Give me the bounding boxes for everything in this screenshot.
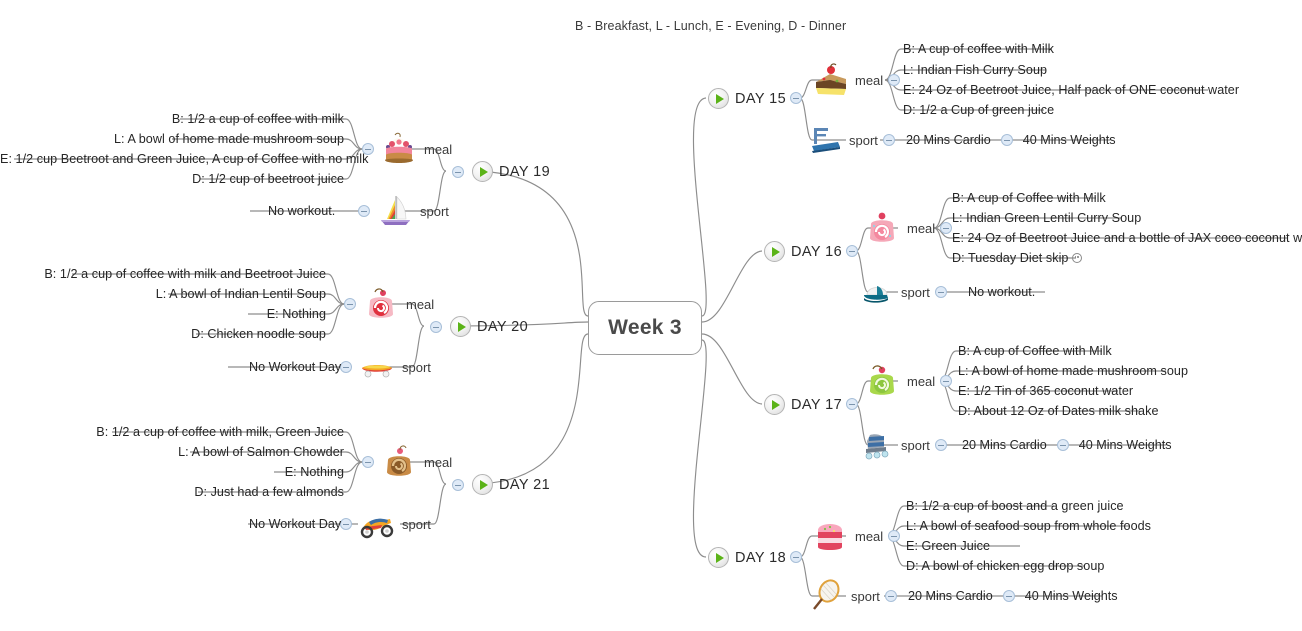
collapse-minus-icon-day-15-meal[interactable]: [888, 74, 900, 86]
meal-item[interactable]: L: A bowl of home made mushroom soup: [0, 132, 344, 146]
play-badge-icon: [450, 316, 471, 337]
baseball-cap-icon: [856, 274, 896, 310]
sport-item[interactable]: 40 Mins Weights: [1023, 133, 1116, 147]
category-meal-day-16[interactable]: meal: [862, 210, 952, 246]
meal-item-text: D: Tuesday Diet skip: [952, 251, 1069, 265]
collapse-minus-icon-day-18-sport-1[interactable]: [1003, 590, 1015, 602]
collapse-minus-icon-day-19[interactable]: [452, 166, 464, 178]
category-label: meal: [406, 297, 434, 312]
sport-item[interactable]: 20 Mins Cardio: [962, 438, 1047, 452]
green-swirl-cake-icon: [862, 363, 902, 399]
meal-item[interactable]: B: 1/2 a cup of coffee with milk: [0, 112, 344, 126]
sport-items-day-16: No workout.: [968, 285, 1035, 299]
meal-item[interactable]: B: A cup of Coffee with Milk: [958, 344, 1112, 358]
category-label: sport: [402, 517, 431, 532]
day-label: DAY 19: [499, 164, 550, 180]
meal-item[interactable]: E: Nothing: [0, 465, 344, 479]
meal-item[interactable]: L: A bowl of seafood soup from whole foo…: [906, 519, 1151, 533]
day-node-day-19[interactable]: DAY 19: [472, 161, 550, 182]
meal-item[interactable]: B: A cup of Coffee with Milk: [952, 191, 1106, 205]
meal-item[interactable]: B: 1/2 a cup of coffee with milk, Green …: [0, 425, 344, 439]
motorcycle-icon: [357, 506, 397, 542]
category-label: meal: [424, 142, 452, 157]
pink-layer-cake-icon: [810, 518, 850, 554]
meal-item[interactable]: L: A bowl of home made mushroom soup: [958, 364, 1188, 378]
collapse-minus-icon-day-18[interactable]: [790, 551, 802, 563]
collapse-minus-icon-day-18-sport[interactable]: [885, 590, 897, 602]
collapse-minus-icon-day-20-meal[interactable]: [344, 298, 356, 310]
tennis-racket-icon: [806, 578, 846, 614]
meal-item[interactable]: B: 1/2 a cup of boost and a green juice: [906, 499, 1124, 513]
collapse-minus-icon-day-17[interactable]: [846, 398, 858, 410]
category-meal-day-18[interactable]: meal: [810, 518, 900, 554]
collapse-minus-icon-day-16-meal[interactable]: [940, 222, 952, 234]
category-label: meal: [424, 455, 452, 470]
collapse-minus-icon-day-20[interactable]: [430, 321, 442, 333]
sport-item[interactable]: 20 Mins Cardio: [906, 133, 991, 147]
category-meal-day-15[interactable]: meal: [810, 62, 900, 98]
collapse-minus-icon-day-17-sport[interactable]: [935, 439, 947, 451]
play-badge-icon: [708, 547, 729, 568]
category-sport-day-15[interactable]: sport: [804, 122, 895, 158]
collapse-minus-icon-day-21-sport[interactable]: [340, 518, 352, 530]
meal-item[interactable]: D: A bowl of chicken egg drop soup: [906, 559, 1104, 573]
category-sport-day-21[interactable]: sport: [340, 506, 431, 542]
category-sport-day-20[interactable]: sport: [340, 349, 431, 385]
day-node-day-15[interactable]: DAY 15: [708, 88, 786, 109]
day-label: DAY 15: [735, 91, 786, 107]
meal-item[interactable]: D: About 12 Oz of Dates milk shake: [958, 404, 1159, 418]
category-label: meal: [855, 73, 883, 88]
meal-item[interactable]: B: A cup of coffee with Milk: [903, 42, 1054, 56]
collapse-minus-icon-day-15[interactable]: [790, 92, 802, 104]
sport-items-day-20: No Workout Day: [249, 360, 341, 374]
collapse-minus-icon-day-16-sport[interactable]: [935, 286, 947, 298]
skateboard-icon: [357, 349, 397, 385]
meal-item[interactable]: B: 1/2 a cup of coffee with milk and Bee…: [0, 267, 326, 281]
category-sport-day-17[interactable]: sport: [856, 427, 947, 463]
category-sport-day-16[interactable]: sport: [856, 274, 947, 310]
sport-items-day-18: 20 Mins Cardio 40 Mins Weights: [908, 589, 1118, 603]
legend-text: B - Breakfast, L - Lunch, E - Evening, D…: [575, 19, 846, 33]
category-label: meal: [907, 221, 935, 236]
category-meal-day-21[interactable]: meal: [362, 444, 452, 480]
collapse-minus-icon-day-15-sport-1[interactable]: [1001, 134, 1013, 146]
meal-item[interactable]: E: 1/2 Tin of 365 coconut water: [958, 384, 1133, 398]
day-node-day-21[interactable]: DAY 21: [472, 474, 550, 495]
category-label: sport: [901, 285, 930, 300]
sport-item[interactable]: No Workout Day: [249, 360, 341, 374]
category-label: meal: [855, 529, 883, 544]
category-meal-day-20[interactable]: meal: [344, 286, 434, 322]
collapse-minus-icon-day-17-sport-1[interactable]: [1057, 439, 1069, 451]
category-label: sport: [402, 360, 431, 375]
collapse-minus-icon-day-17-meal[interactable]: [940, 375, 952, 387]
collapse-minus-icon-day-19-sport[interactable]: [358, 205, 370, 217]
meal-item[interactable]: D: Chicken noodle soup: [0, 327, 326, 341]
play-badge-icon: [764, 394, 785, 415]
sport-item[interactable]: 40 Mins Weights: [1025, 589, 1118, 603]
sport-items-day-19: No workout.: [268, 204, 335, 218]
sport-item[interactable]: 20 Mins Cardio: [908, 589, 993, 603]
day-label: DAY 16: [791, 244, 842, 260]
day-label: DAY 18: [735, 550, 786, 566]
meal-item[interactable]: L: A bowl of Salmon Chowder: [0, 445, 344, 459]
day-node-day-20[interactable]: DAY 20: [450, 316, 528, 337]
meal-item[interactable]: D: Tuesday Diet skip: [952, 251, 1082, 265]
meal-item[interactable]: E: 24 Oz of Beetroot Juice, Half pack of…: [903, 83, 1239, 97]
category-sport-day-19[interactable]: sport: [358, 193, 449, 229]
red-swirl-cake-icon: [361, 286, 401, 322]
collapse-minus-icon-day-21-meal[interactable]: [362, 456, 374, 468]
day-node-day-18[interactable]: DAY 18: [708, 547, 786, 568]
root-node[interactable]: Week 3: [588, 301, 702, 355]
sport-item[interactable]: No workout.: [268, 204, 335, 218]
sailboat-icon: [375, 193, 415, 229]
meal-item[interactable]: L: Indian Fish Curry Soup: [903, 63, 1047, 77]
day-node-day-17[interactable]: DAY 17: [764, 394, 842, 415]
category-sport-day-18[interactable]: sport: [806, 578, 897, 614]
sport-item[interactable]: No workout.: [968, 285, 1035, 299]
meal-item[interactable]: E: 1/2 cup Beetroot and Green Juice, A c…: [0, 152, 344, 166]
meal-item[interactable]: D: 1/2 a Cup of green juice: [903, 103, 1054, 117]
sport-items-day-17: 20 Mins Cardio 40 Mins Weights: [962, 438, 1172, 452]
meal-item[interactable]: L: Indian Green Lentil Curry Soup: [952, 211, 1141, 225]
collapse-minus-icon-day-21[interactable]: [452, 479, 464, 491]
sport-items-day-21: No Workout Day: [249, 517, 341, 531]
play-badge-icon: [764, 241, 785, 262]
rollerblade-icon: [856, 427, 896, 463]
day-node-day-16[interactable]: DAY 16: [764, 241, 842, 262]
meal-item[interactable]: D: Just had a few almonds: [0, 485, 344, 499]
play-badge-icon: [472, 474, 493, 495]
mindmap-canvas: B - Breakfast, L - Lunch, E - Evening, D…: [0, 0, 1302, 631]
category-label: meal: [907, 374, 935, 389]
category-meal-day-19[interactable]: meal: [362, 131, 452, 167]
collapse-minus-icon-day-16[interactable]: [846, 245, 858, 257]
pink-swirl-cake-icon: [862, 210, 902, 246]
smiley-icon: [1072, 253, 1082, 263]
cake-slice-cherry-icon: [810, 62, 850, 98]
sport-items-day-15: 20 Mins Cardio 40 Mins Weights: [906, 133, 1116, 147]
collapse-minus-icon-day-15-sport[interactable]: [883, 134, 895, 146]
sport-item[interactable]: 40 Mins Weights: [1079, 438, 1172, 452]
meal-item[interactable]: D: 1/2 cup of beetroot juice: [0, 172, 344, 186]
category-label: sport: [901, 438, 930, 453]
category-label: sport: [420, 204, 449, 219]
sport-item[interactable]: No Workout Day: [249, 517, 341, 531]
meal-item[interactable]: E: 24 Oz of Beetroot Juice and a bottle …: [952, 231, 1302, 245]
category-label: sport: [849, 133, 878, 148]
day-label: DAY 17: [791, 397, 842, 413]
fruit-tart-icon: [379, 131, 419, 167]
chocolate-roll-cake-icon: [379, 444, 419, 480]
meal-item[interactable]: E: Nothing: [0, 307, 326, 321]
collapse-minus-icon-day-20-sport[interactable]: [340, 361, 352, 373]
day-label: DAY 20: [477, 319, 528, 335]
meal-item[interactable]: L: A bowl of Indian Lentil Soup: [0, 287, 326, 301]
day-label: DAY 21: [499, 477, 550, 493]
category-meal-day-17[interactable]: meal: [862, 363, 952, 399]
category-label: sport: [851, 589, 880, 604]
collapse-minus-icon-day-18-meal[interactable]: [888, 530, 900, 542]
treadmill-icon: [804, 122, 844, 158]
play-badge-icon: [708, 88, 729, 109]
meal-item[interactable]: E: Green Juice: [906, 539, 990, 553]
play-badge-icon: [472, 161, 493, 182]
